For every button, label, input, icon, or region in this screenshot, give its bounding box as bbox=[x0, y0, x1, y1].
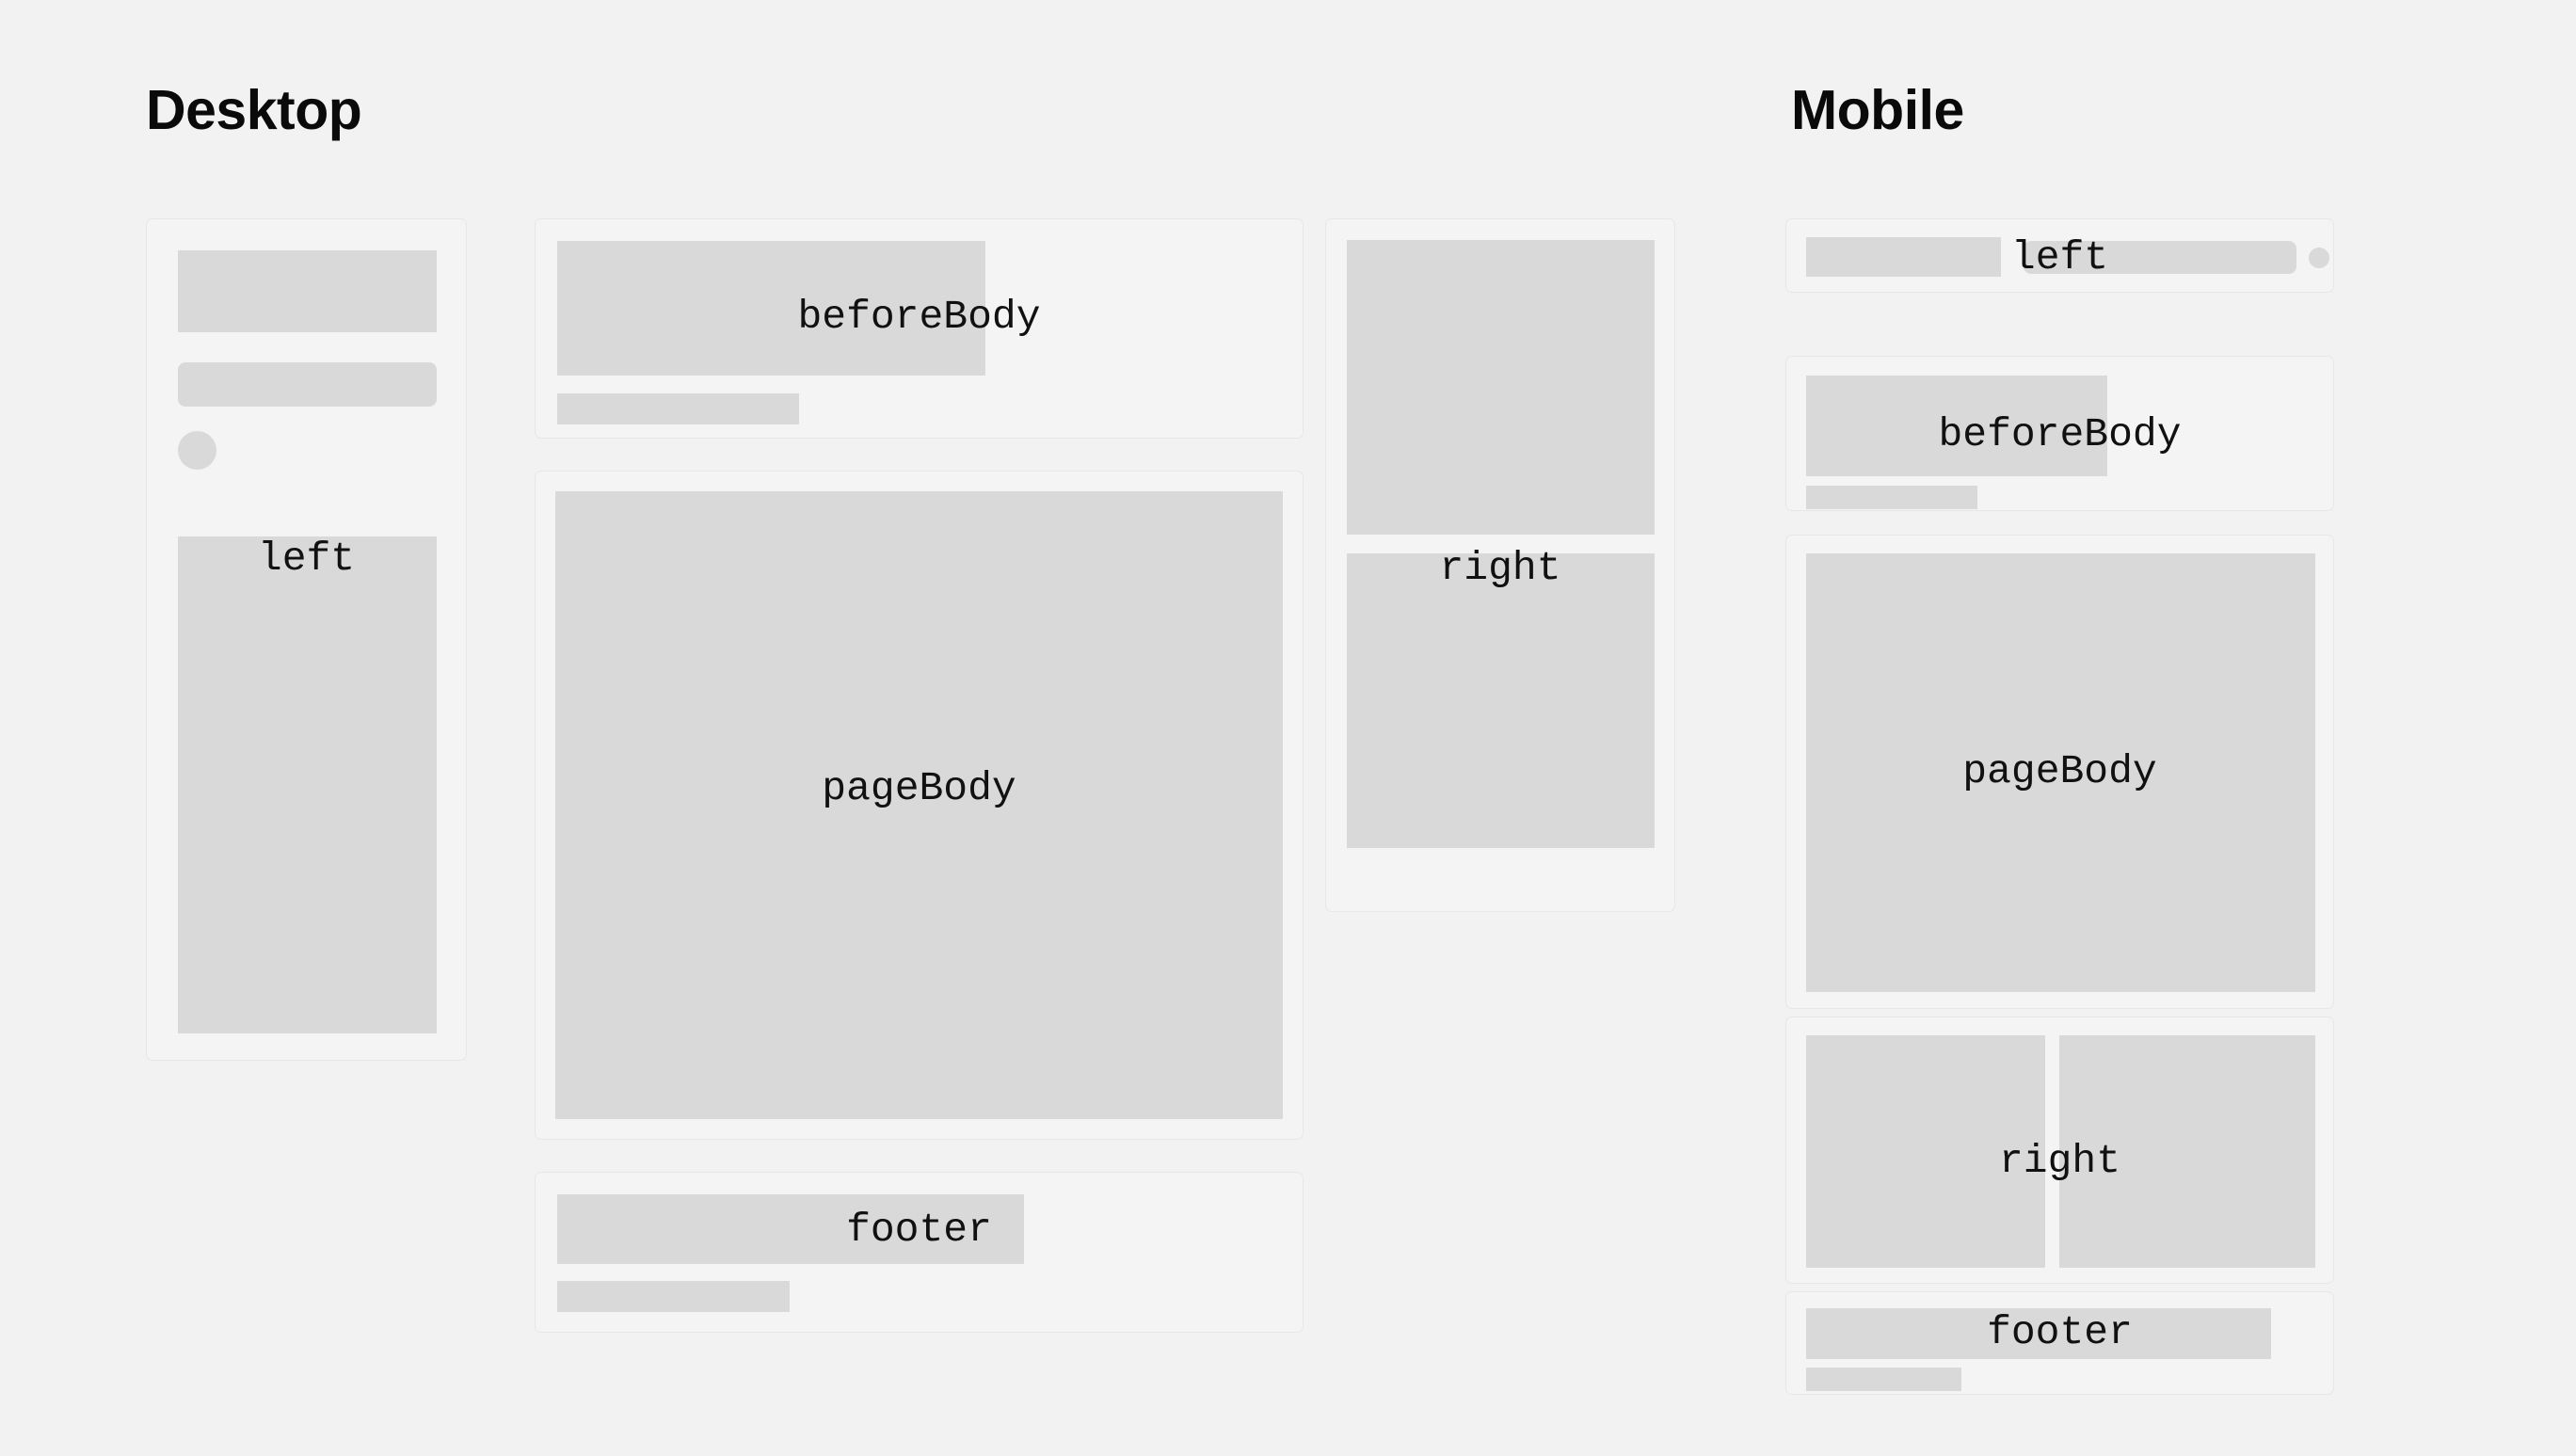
desktop-left-slot-panel[interactable] bbox=[146, 218, 467, 1061]
skeleton-block-small bbox=[557, 393, 799, 424]
mobile-section-title: Mobile bbox=[1791, 83, 1964, 138]
skeleton-block-large bbox=[557, 241, 985, 376]
skeleton-avatar-circle bbox=[178, 431, 216, 470]
mobile-pagebody-slot-panel[interactable] bbox=[1785, 535, 2334, 1009]
skeleton-block-rounded bbox=[178, 362, 437, 407]
skeleton-block-small bbox=[1806, 1368, 1961, 1391]
mobile-left-slot-panel[interactable] bbox=[1785, 218, 2334, 293]
skeleton-block-left bbox=[1806, 1035, 2045, 1268]
mobile-beforebody-slot-panel[interactable] bbox=[1785, 356, 2334, 511]
skeleton-block-tall bbox=[178, 536, 437, 1033]
skeleton-block-fill bbox=[555, 491, 1283, 1119]
skeleton-block-large bbox=[1806, 376, 2107, 476]
skeleton-block-large bbox=[557, 1194, 1024, 1264]
skeleton-block-right bbox=[2059, 1035, 2315, 1268]
skeleton-block-small bbox=[557, 1281, 790, 1312]
skeleton-block-top bbox=[1347, 240, 1655, 535]
desktop-footer-slot-panel[interactable] bbox=[535, 1172, 1304, 1333]
skeleton-avatar-circle bbox=[2309, 248, 2329, 268]
layout-preview-page: Desktop left beforeBody pageBody footer … bbox=[0, 0, 2576, 1456]
desktop-pagebody-slot-panel[interactable] bbox=[535, 471, 1304, 1140]
skeleton-block-small bbox=[1806, 486, 1977, 509]
desktop-beforebody-slot-panel[interactable] bbox=[535, 218, 1304, 439]
skeleton-block-fill bbox=[1806, 553, 2315, 992]
skeleton-block-rect bbox=[1806, 237, 2001, 277]
skeleton-block-rect bbox=[178, 250, 437, 332]
mobile-footer-slot-panel[interactable] bbox=[1785, 1291, 2334, 1395]
skeleton-block-large bbox=[1806, 1308, 2271, 1359]
desktop-right-slot-panel[interactable] bbox=[1325, 218, 1675, 912]
desktop-section-title: Desktop bbox=[146, 83, 361, 138]
mobile-right-slot-panel[interactable] bbox=[1785, 1016, 2334, 1284]
skeleton-block-pill bbox=[2024, 241, 2296, 274]
skeleton-block-bottom bbox=[1347, 553, 1655, 848]
